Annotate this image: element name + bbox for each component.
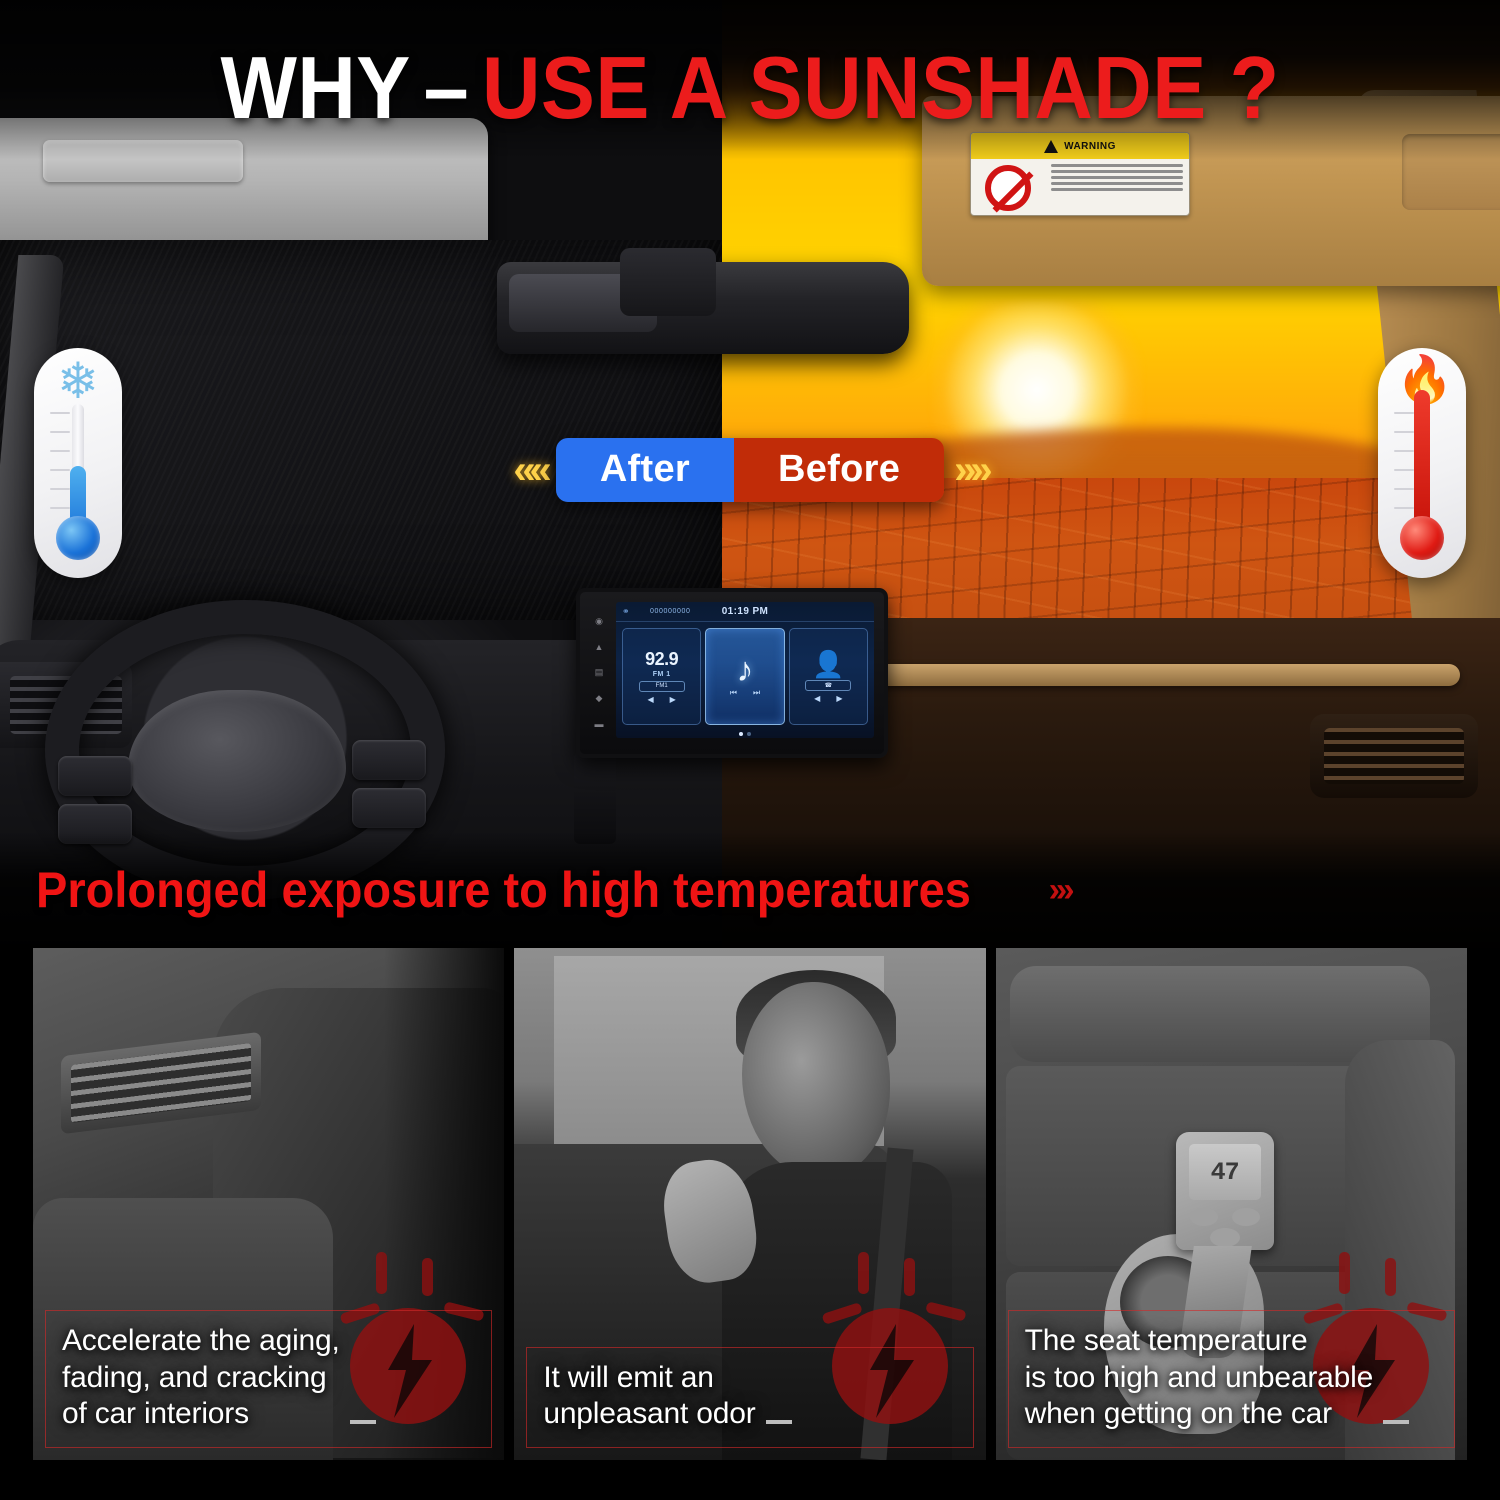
head-unit-side-buttons[interactable]: ◉ ▲ ▤ ◆ ▬ [588, 608, 610, 736]
head-unit-mount [574, 752, 616, 844]
phone-prev-icon[interactable]: ◀ [814, 694, 820, 703]
caption-text: It will emit an unpleasant odor [543, 1360, 755, 1433]
panel-aging-fading-cracking: Accelerate the aging, fading, and cracki… [33, 948, 504, 1460]
media-prev-icon[interactable]: ⏮ [730, 688, 737, 698]
title-red-words: USE A SUNSHADE ? [482, 44, 1280, 132]
thermometer-reading: 47 [1211, 1160, 1239, 1185]
radio-frequency: 92.9 [645, 650, 678, 668]
tagline-text: Prolonged exposure to high temperatures [36, 865, 971, 915]
caption-dash-icon [350, 1420, 376, 1424]
tick [1394, 412, 1414, 414]
before-after-badge-group: «« After Before »» [0, 430, 1500, 510]
media-tile[interactable]: ♪ ⏮ ⏭ [705, 628, 784, 725]
minus-icon[interactable]: ▬ [595, 719, 604, 729]
head-unit-screen[interactable]: ⚭ 000000000 01:19 PM 92.9 FM 1 FM1 ◀ ▶ [616, 602, 874, 738]
title-white-word: WHY [220, 44, 410, 132]
tick [50, 412, 70, 414]
caption-dash-icon [766, 1420, 792, 1424]
page-title: WHY – USE A SUNSHADE ? [60, 34, 1440, 142]
head-unit-status-bar: ⚭ 000000000 01:19 PM [616, 602, 874, 622]
head-unit-carrier: 000000000 [650, 608, 690, 615]
media-next-icon[interactable]: ⏭ [753, 688, 760, 698]
steering-control-button [352, 788, 426, 828]
radio-preset[interactable]: FM1 [639, 681, 685, 692]
phone-tile[interactable]: 👤 ☎ ◀ ▶ [789, 628, 868, 725]
device-button [1190, 1208, 1218, 1226]
panel-caption: The seat temperature is too high and unb… [1008, 1310, 1455, 1448]
compare-badges: After Before [556, 438, 944, 502]
chevron-left-icon: «« [513, 448, 546, 493]
home-icon[interactable]: ▲ [595, 642, 604, 652]
volume-icon[interactable]: ▤ [595, 667, 604, 678]
panel-caption: Accelerate the aging, fading, and cracki… [45, 1310, 492, 1448]
before-badge[interactable]: Before [734, 438, 944, 502]
prohibition-circle-icon [985, 165, 1031, 211]
sunshade-marketing-poster: WARNING [0, 0, 1500, 1500]
steering-control-button [58, 756, 132, 796]
phone-status-pill[interactable]: ☎ [805, 680, 851, 691]
thermometer-display: 47 [1189, 1144, 1261, 1200]
device-button [1232, 1208, 1260, 1226]
steering-control-button [352, 740, 426, 780]
radio-prev-icon[interactable]: ◀ [648, 695, 654, 704]
media-controls[interactable]: ⏮ ⏭ [730, 688, 760, 698]
radio-tile[interactable]: 92.9 FM 1 FM1 ◀ ▶ [622, 628, 701, 725]
radio-band: FM 1 [653, 671, 671, 678]
car-infotainment-head-unit: ◉ ▲ ▤ ◆ ▬ ⚭ 000000000 01:19 PM 92.9 FM 1… [576, 588, 888, 758]
warning-text-line [1051, 182, 1183, 185]
air-vent-right [1310, 714, 1478, 798]
infrared-thermometer-gun: 47 [1176, 1132, 1274, 1250]
tagline-band: Prolonged exposure to high temperatures … [0, 832, 1500, 948]
apps-icon[interactable]: ◆ [596, 693, 603, 704]
radio-seek-controls[interactable]: ◀ ▶ [648, 695, 676, 704]
caption-dash-icon [1383, 1420, 1409, 1424]
title-separator: – [424, 44, 469, 132]
snowflake-icon: ❄ [51, 354, 105, 408]
phone-controls[interactable]: ◀ ▶ [814, 694, 842, 703]
bluetooth-icon: ⚭ [622, 606, 630, 617]
warning-text-line [1051, 170, 1183, 173]
no-child-seat-airbag-icon [971, 159, 1045, 216]
music-note-icon: ♪ [736, 655, 753, 686]
warning-text-line [1051, 188, 1183, 191]
chevron-right-icon: »» [954, 448, 987, 493]
panel-unpleasant-odor: It will emit an unpleasant odor [514, 948, 985, 1460]
after-badge[interactable]: After [556, 438, 734, 502]
before-after-hero: WARNING [0, 0, 1500, 948]
warning-label-text-lines [1045, 159, 1189, 216]
device-button [1210, 1228, 1240, 1247]
warning-text-line [1051, 176, 1183, 179]
thermometer-bulb [56, 516, 100, 560]
thermometer-bulb [1400, 516, 1444, 560]
panel-seat-temperature: 47 The seat [996, 948, 1467, 1460]
head-unit-clock: 01:19 PM [722, 606, 769, 617]
caption-text: The seat temperature is too high and unb… [1025, 1323, 1373, 1433]
phone-next-icon[interactable]: ▶ [836, 694, 842, 703]
power-icon[interactable]: ◉ [595, 616, 603, 627]
head-unit-tiles: 92.9 FM 1 FM1 ◀ ▶ ♪ ⏮ ⏭ [616, 622, 874, 729]
person-icon: 👤 [812, 651, 844, 677]
page-dot[interactable] [747, 732, 751, 736]
tagline-chevron-icon: ››› [1049, 871, 1071, 910]
caption-text: Accelerate the aging, fading, and cracki… [62, 1323, 340, 1433]
page-indicator-dots[interactable] [616, 729, 874, 738]
steering-wheel-airbag-hub [128, 690, 346, 832]
radio-next-icon[interactable]: ▶ [670, 695, 676, 704]
page-dot-active[interactable] [739, 732, 743, 736]
rearview-mirror-stem [620, 248, 716, 316]
warning-label-body [971, 159, 1189, 216]
warning-text-line [1051, 164, 1183, 167]
panel-caption: It will emit an unpleasant odor [526, 1347, 973, 1448]
consequence-panels: Accelerate the aging, fading, and cracki… [0, 948, 1500, 1500]
